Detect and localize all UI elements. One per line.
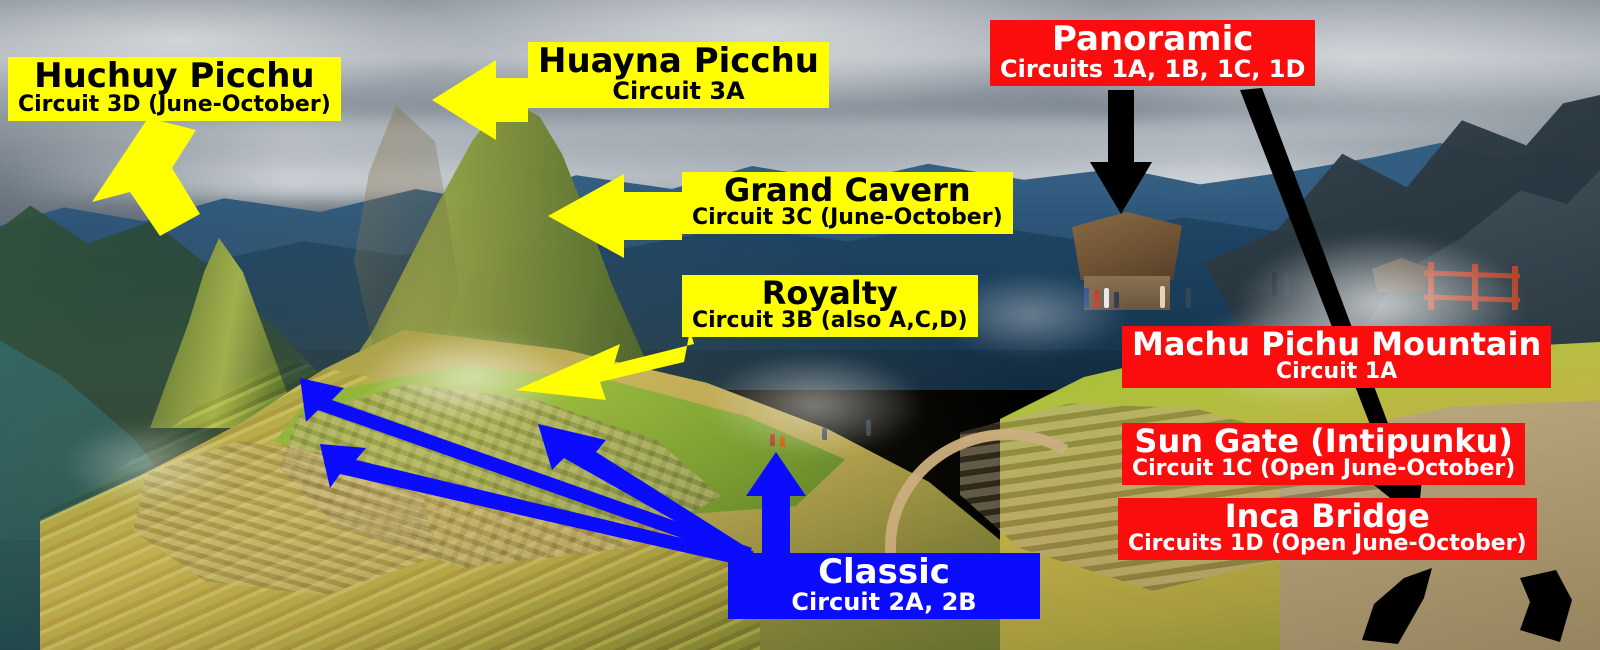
callout-subtitle: Circuit 2A, 2B	[738, 590, 1030, 614]
tourist	[822, 428, 827, 440]
tourist	[866, 420, 871, 436]
callout-subtitle: Circuit 1A	[1132, 361, 1541, 383]
callout-title: Sun Gate (Intipunku)	[1132, 425, 1515, 458]
callout-title: Inca Bridge	[1128, 500, 1527, 533]
tourist	[1160, 286, 1165, 308]
tourist	[780, 436, 785, 447]
callout-subtitle: Circuit 3D (June-October)	[18, 94, 331, 116]
callout-classic[interactable]: Classic Circuit 2A, 2B	[728, 553, 1040, 619]
callout-subtitle: Circuit 3A	[538, 79, 819, 103]
callout-title: Panoramic	[1000, 22, 1305, 57]
tourist	[1186, 288, 1191, 308]
tourist	[1104, 288, 1109, 308]
wooden-fence	[1424, 262, 1520, 310]
callout-machu-pichu-mountain[interactable]: Machu Pichu Mountain Circuit 1A	[1122, 326, 1551, 388]
callout-subtitle: Circuit 3C (June-October)	[692, 207, 1003, 229]
callout-sun-gate[interactable]: Sun Gate (Intipunku) Circuit 1C (Open Ju…	[1122, 423, 1525, 485]
tourist	[770, 434, 775, 446]
callout-royalty[interactable]: Royalty Circuit 3B (also A,C,D)	[682, 275, 978, 337]
callout-huayna-picchu[interactable]: Huayna Picchu Circuit 3A	[528, 42, 829, 108]
tourist	[1094, 290, 1099, 308]
tourist	[1114, 292, 1119, 308]
callout-subtitle: Circuit 1C (Open June-October)	[1132, 458, 1515, 480]
callout-inca-bridge[interactable]: Inca Bridge Circuits 1D (Open June-Octob…	[1118, 498, 1537, 560]
annotated-photo-stage: Huchuy Picchu Circuit 3D (June-October) …	[0, 0, 1600, 650]
tourist	[1084, 288, 1089, 308]
callout-title: Huchuy Picchu	[18, 59, 331, 94]
callout-panoramic[interactable]: Panoramic Circuits 1A, 1B, 1C, 1D	[990, 20, 1315, 86]
callout-subtitle: Circuits 1D (Open June-October)	[1128, 533, 1527, 555]
callout-grand-cavern[interactable]: Grand Cavern Circuit 3C (June-October)	[682, 172, 1013, 234]
tourist	[1284, 274, 1289, 296]
tourist	[1272, 272, 1277, 296]
callout-title: Machu Pichu Mountain	[1132, 328, 1541, 361]
cloud-band-upper	[0, 118, 1600, 166]
callout-huchuy-picchu[interactable]: Huchuy Picchu Circuit 3D (June-October)	[8, 57, 341, 121]
callout-subtitle: Circuits 1A, 1B, 1C, 1D	[1000, 57, 1305, 81]
callout-title: Grand Cavern	[692, 174, 1003, 207]
callout-title: Huayna Picchu	[538, 44, 819, 79]
callout-title: Classic	[738, 555, 1030, 590]
callout-title: Royalty	[692, 277, 968, 310]
callout-subtitle: Circuit 3B (also A,C,D)	[692, 310, 968, 332]
